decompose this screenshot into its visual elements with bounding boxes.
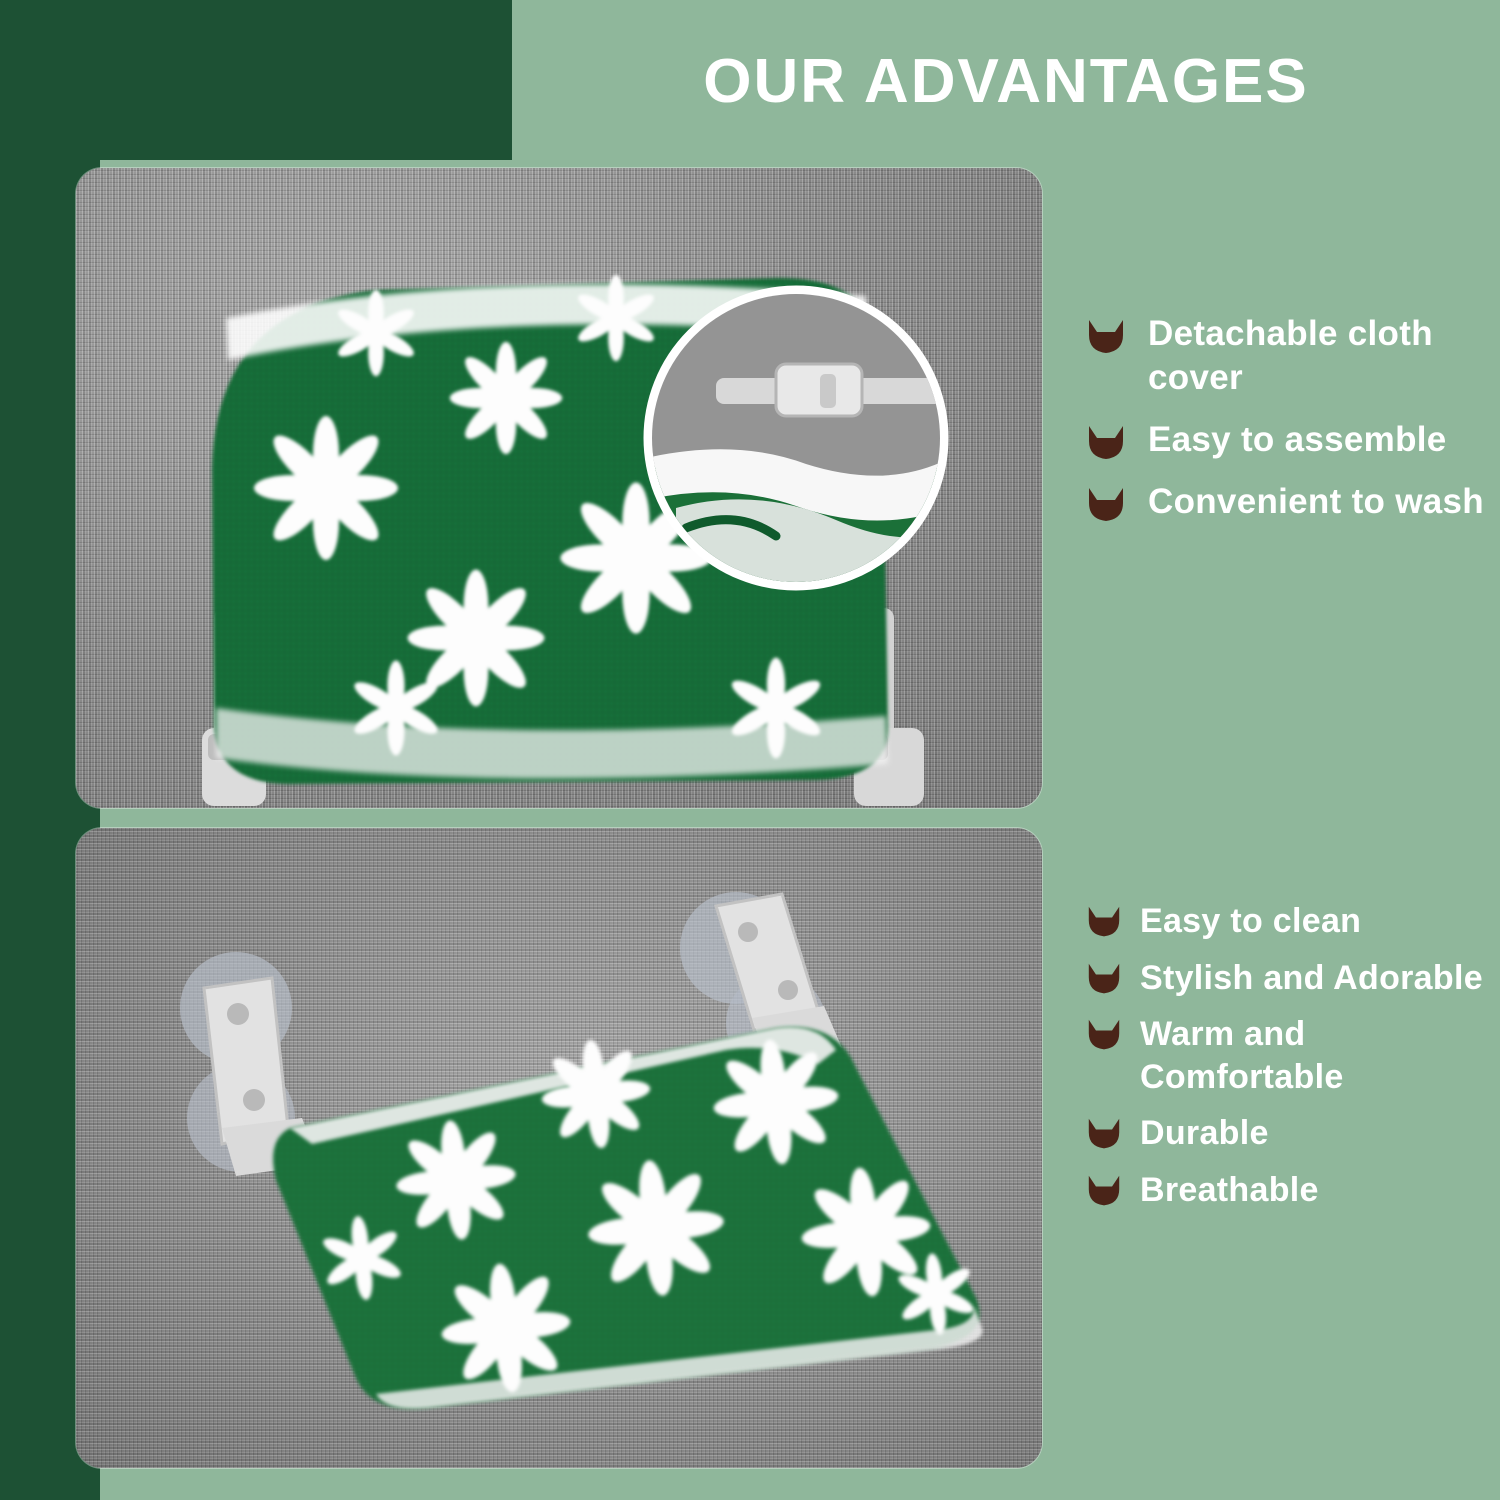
features-bottom: Easy to clean Stylish and Adorable Warm … (1086, 900, 1486, 1225)
page-title: OUR ADVANTAGES (512, 46, 1500, 117)
feature-item: Detachable cloth cover (1086, 312, 1486, 400)
hammock-illustration-bottom (76, 828, 1042, 1468)
zipper-closeup-inset (646, 288, 966, 592)
cat-head-icon (1086, 962, 1122, 996)
cat-head-icon (1086, 1174, 1122, 1208)
feature-label: Stylish and Adorable (1140, 957, 1483, 1000)
cat-head-icon (1086, 1018, 1122, 1052)
feature-item: Warm and Comfortable (1086, 1013, 1486, 1098)
feature-label: Breathable (1140, 1169, 1319, 1212)
feature-item: Breathable (1086, 1169, 1486, 1212)
feature-item: Stylish and Adorable (1086, 957, 1486, 1000)
cat-head-icon (1086, 424, 1126, 462)
zipper-design-photo: Zipper Design (76, 168, 1042, 808)
feature-label: Easy to assemble (1148, 418, 1447, 462)
cat-head-icon (1086, 905, 1122, 939)
hammock-illustration-top (76, 168, 1042, 808)
feature-label: Durable (1140, 1112, 1269, 1155)
feature-label: Detachable cloth cover (1148, 312, 1486, 400)
cat-head-icon (1086, 318, 1126, 356)
top-left-dark-band (0, 0, 512, 160)
feature-item: Easy to assemble (1086, 418, 1486, 462)
feature-label: Easy to clean (1140, 900, 1361, 943)
features-top: Detachable cloth cover Easy to assemble … (1086, 312, 1486, 542)
feature-label: Convenient to wash (1148, 480, 1484, 524)
feature-item: Easy to clean (1086, 900, 1486, 943)
cat-head-icon (1086, 1117, 1122, 1151)
cat-head-icon (1086, 486, 1126, 524)
feature-item: Convenient to wash (1086, 480, 1486, 524)
feature-label: Warm and Comfortable (1140, 1013, 1486, 1098)
advantages-infographic: OUR ADVANTAGES (0, 0, 1500, 1500)
cozy-fabric-photo: Cozy and Cute Fabric (76, 828, 1042, 1468)
feature-item: Durable (1086, 1112, 1486, 1155)
